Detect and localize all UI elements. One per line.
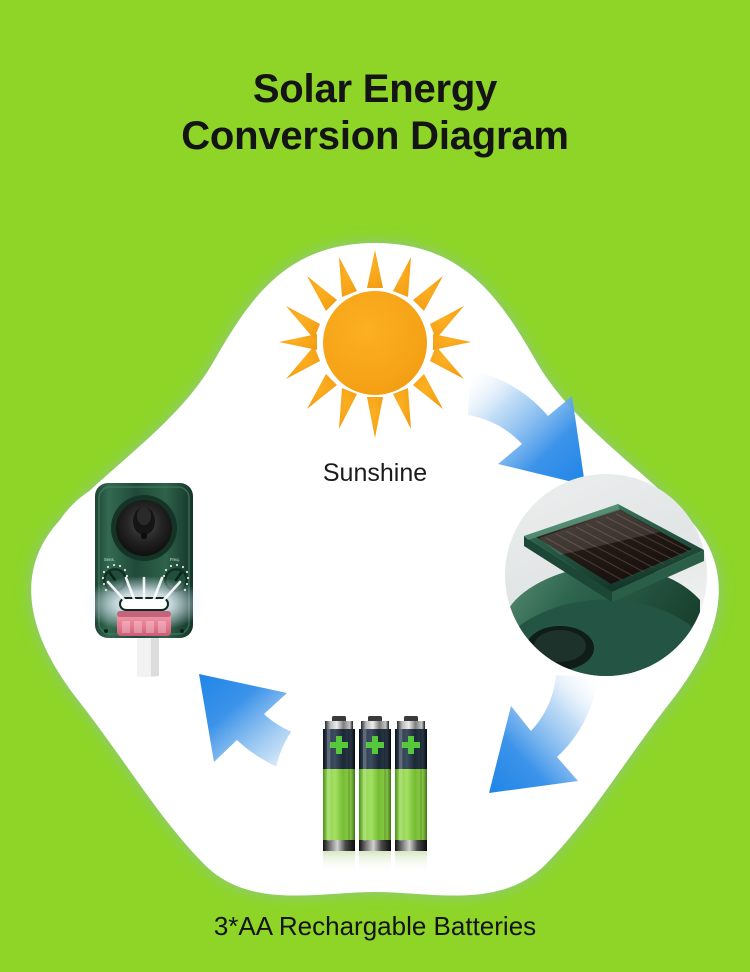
page-title: Solar Energy Conversion Diagram: [0, 66, 750, 160]
svg-text:Freq.: Freq.: [170, 557, 180, 562]
node-batteries[interactable]: [274, 687, 476, 889]
poster-canvas: Solar Energy Conversion Diagram: [0, 0, 750, 972]
label-sunshine: Sunshine: [0, 459, 750, 488]
svg-text:Sens.: Sens.: [104, 557, 115, 562]
node-sunshine[interactable]: [274, 244, 476, 446]
solar-energy-cycle-diagram: Sens. Freq.: [0, 180, 750, 920]
label-batteries: 3*AA Rechargable Batteries: [0, 911, 750, 942]
batteries-icon: [323, 716, 427, 873]
